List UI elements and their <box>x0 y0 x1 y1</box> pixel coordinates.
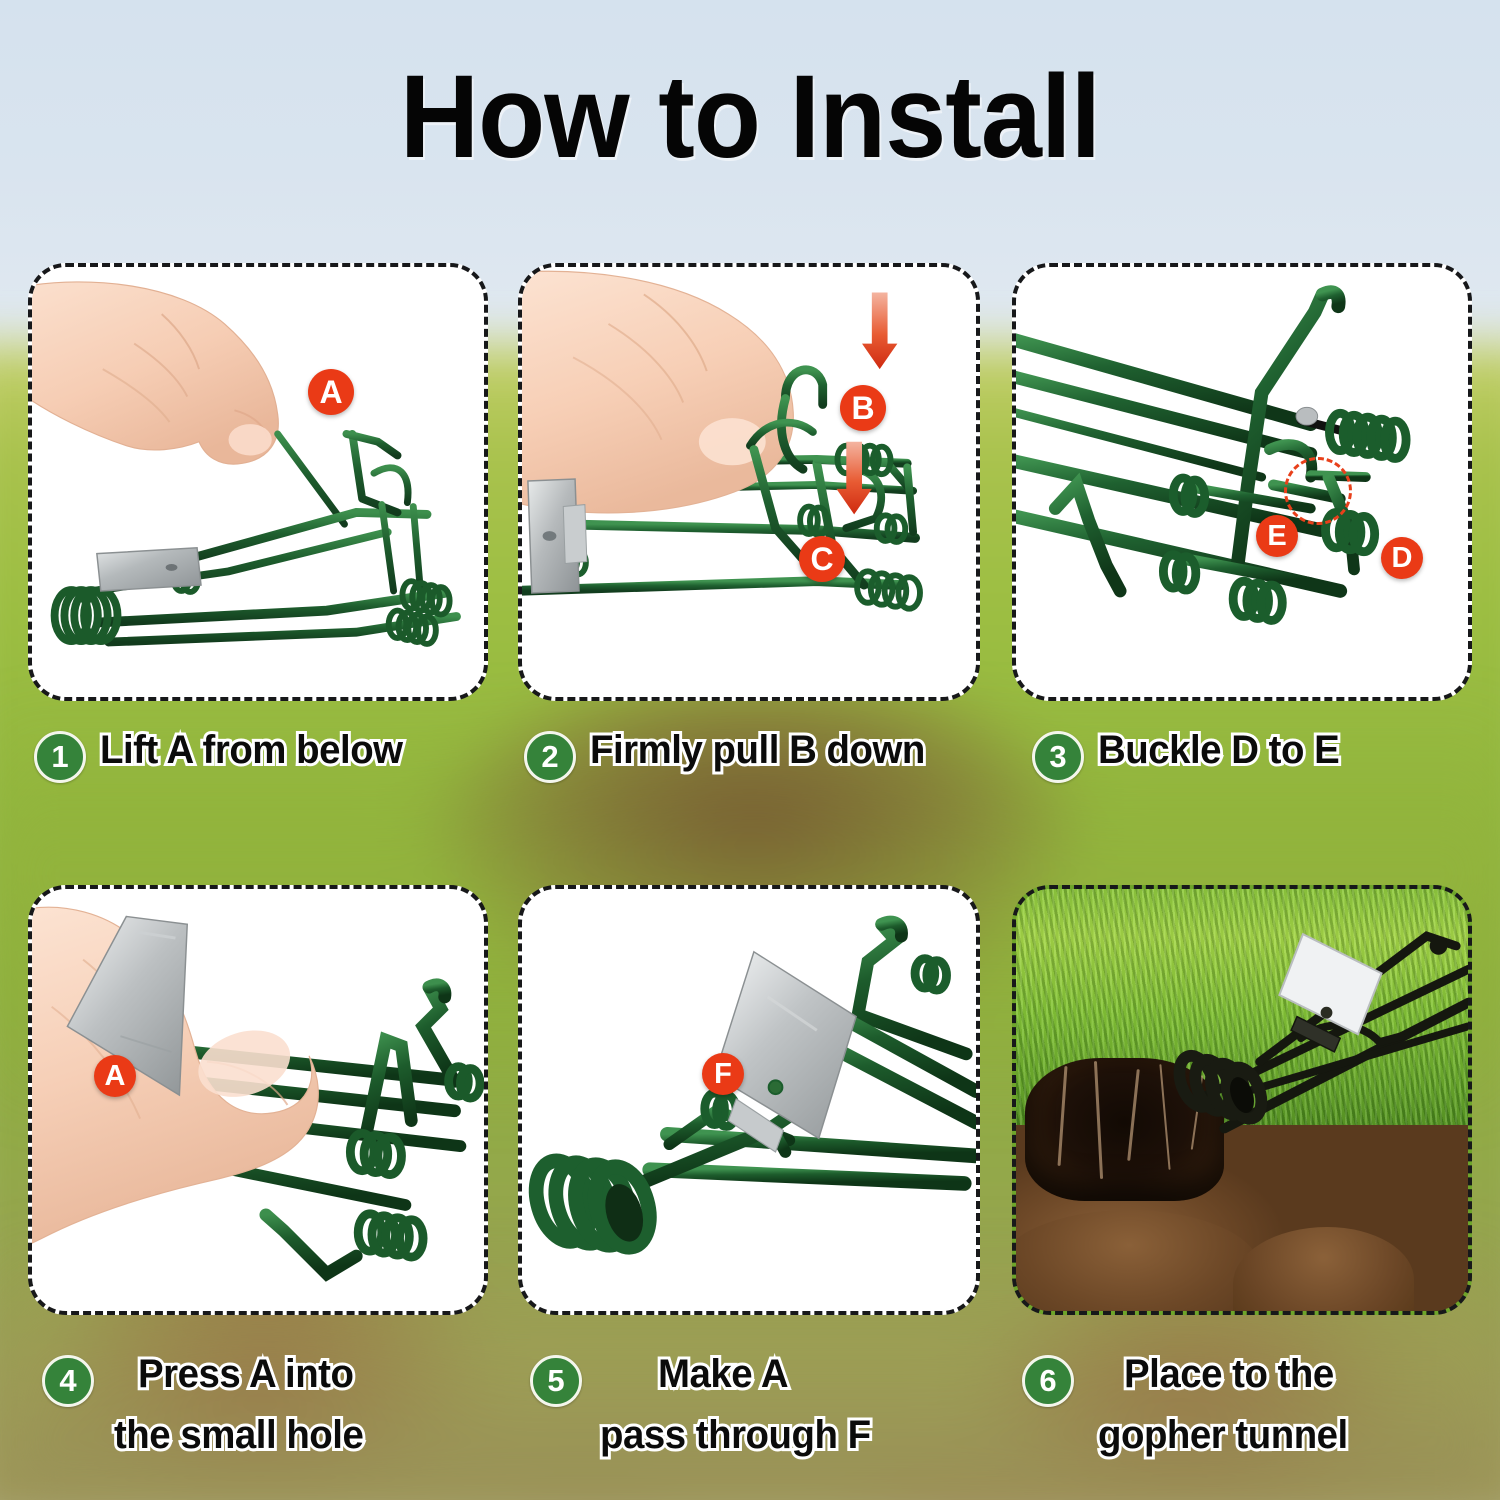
step-2-image-frame: B C <box>518 263 980 701</box>
step-panel-2: B C <box>518 263 980 701</box>
metal-plate <box>97 548 201 591</box>
step-panel-1: A <box>28 263 488 701</box>
step-1-image-frame: A <box>28 263 488 701</box>
marker-c: C <box>799 536 845 582</box>
step-3-image-frame: E D <box>1012 263 1472 701</box>
marker-a: A <box>94 1055 136 1097</box>
marker-f: F <box>702 1053 744 1095</box>
steps-grid: A <box>0 0 1500 1500</box>
marker-d: D <box>1381 537 1423 579</box>
step-panel-6 <box>1012 885 1472 1315</box>
marker-b: B <box>840 385 886 431</box>
dashed-highlight-circle <box>1284 457 1352 525</box>
step-2-illustration <box>522 267 976 697</box>
trap-wire-a <box>278 434 345 524</box>
step-5-image-frame: F <box>518 885 980 1315</box>
step-1-illustration <box>32 267 484 697</box>
marker-a: A <box>308 369 354 415</box>
marker-e: E <box>1256 515 1298 557</box>
step-panel-5: F <box>518 885 980 1315</box>
step-panel-4: A <box>28 885 488 1315</box>
step-4-image-frame: A <box>28 885 488 1315</box>
step-5-illustration <box>522 889 976 1311</box>
step-3-illustration <box>1016 267 1468 697</box>
step-6-image-frame <box>1012 885 1472 1315</box>
hand-shape <box>522 271 793 513</box>
photo-trap-placed <box>1016 889 1468 1311</box>
step-panel-3: E D <box>1012 263 1472 701</box>
page-title: How to Install <box>53 58 1448 176</box>
arrow-down-b <box>862 293 897 370</box>
step-4-illustration <box>32 889 484 1311</box>
